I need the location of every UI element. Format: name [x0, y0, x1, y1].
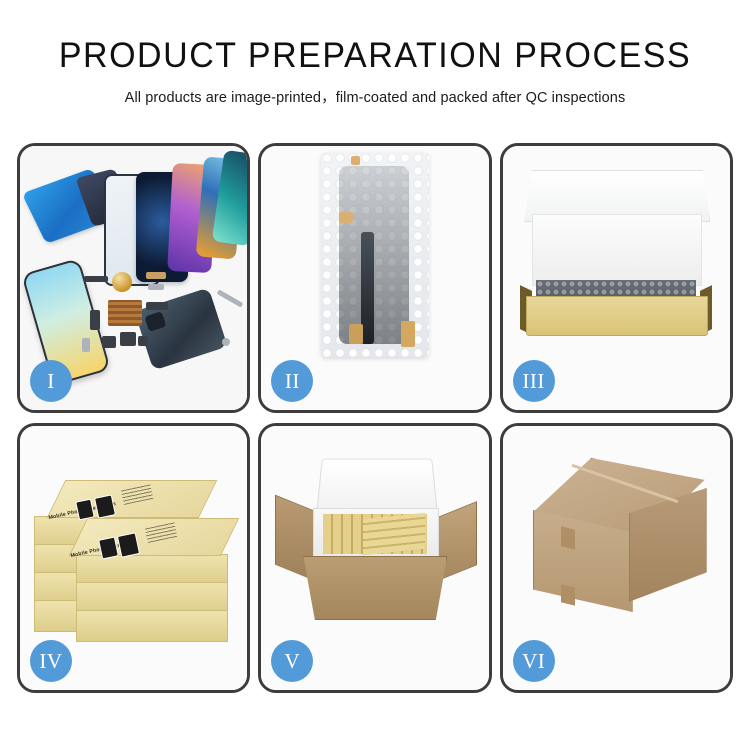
page-title: PRODUCT PREPARATION PROCESS: [11, 38, 739, 75]
part-small-e: [120, 332, 136, 346]
page-subtitle: All products are image-printed，film-coat…: [0, 86, 750, 107]
step-badge-4: IV: [30, 640, 72, 682]
part-strip: [84, 276, 108, 282]
screw-part: [222, 338, 230, 346]
wrapped-screen-assembly: [339, 166, 409, 344]
kraft-box-front: [526, 296, 708, 336]
gold-component-icon: [112, 272, 132, 292]
tape-piece-b: [401, 321, 415, 347]
part-flex-tan: [146, 272, 166, 279]
step-badge-6: VI: [513, 640, 555, 682]
carton-tape-tab-top: [561, 526, 575, 549]
bubble-wrap-bag: [321, 152, 429, 357]
page-header: PRODUCT PREPARATION PROCESS All products…: [0, 0, 750, 107]
process-panel-1[interactable]: I: [17, 143, 250, 413]
process-panel-3[interactable]: III: [500, 143, 733, 413]
process-panel-6[interactable]: VI: [500, 423, 733, 693]
carton-tape-tab-bottom: [561, 584, 575, 605]
process-panel-4[interactable]: Mobile Phone Spare Parts Mobile Phone Sp…: [17, 423, 250, 693]
process-panel-5[interactable]: V: [258, 423, 491, 693]
screen-flex-cable: [361, 232, 374, 344]
stacked-box: [76, 610, 228, 642]
part-small-d: [82, 338, 90, 352]
process-step-grid: I II III: [17, 143, 733, 693]
packed-retail-boxes-2: [363, 513, 425, 556]
part-flex-light: [148, 284, 164, 290]
chip-grid-component: [108, 300, 142, 326]
carton-front-panel: [303, 556, 447, 620]
white-foam-sheet: [532, 214, 702, 286]
tape-piece-a: [339, 212, 353, 223]
tape-piece-c: [351, 156, 360, 165]
step-badge-1: I: [30, 360, 72, 402]
part-small-b: [146, 302, 168, 310]
part-small-a: [90, 310, 100, 330]
process-panel-2[interactable]: II: [258, 143, 491, 413]
part-small-c: [102, 336, 116, 348]
part-small-f: [138, 336, 148, 346]
step-badge-3: III: [513, 360, 555, 402]
